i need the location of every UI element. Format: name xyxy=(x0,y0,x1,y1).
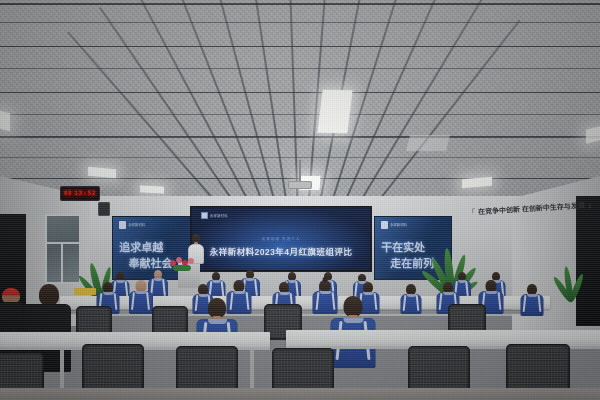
ceiling-cross-rail xyxy=(0,136,600,138)
ceiling-light-panel xyxy=(140,185,164,193)
uniform-stripe xyxy=(315,292,318,310)
company-logo-mark xyxy=(119,221,126,229)
uniform-collar xyxy=(319,291,331,294)
conference-room-photo: 08 13:52 永祥新材料 追求卓越 奉献社会 永祥新材料 优秀班组 先进个人… xyxy=(0,0,600,400)
ceiling-cross-rail xyxy=(0,114,600,115)
uniform-collar xyxy=(212,280,221,283)
ceiling-cross-rail xyxy=(0,22,600,23)
uniform-collar xyxy=(527,294,538,297)
right-banner-line2: 走在前列 xyxy=(390,255,434,271)
flower-bloom xyxy=(188,258,194,264)
company-logo-mark xyxy=(381,221,388,229)
ceiling-light-panel xyxy=(317,90,352,134)
table-leg xyxy=(60,349,64,389)
uniform-stripe xyxy=(220,281,223,297)
uniform-stripe xyxy=(465,281,468,297)
uniform-collar xyxy=(198,294,208,297)
uniform-stripe xyxy=(538,295,541,312)
ceiling-cross-rail xyxy=(0,3,600,5)
ceiling-cross-rail xyxy=(0,92,600,94)
ceiling-cross-rail xyxy=(0,157,600,158)
company-logo-mark xyxy=(201,212,208,219)
uniform-stripe xyxy=(146,292,149,310)
ceiling-projector xyxy=(288,181,312,189)
led-clock-display: 08 13:52 xyxy=(60,186,100,201)
uniform-collar xyxy=(485,291,497,294)
slogan-bracket-close: 」 xyxy=(588,200,596,210)
uniform-stripe xyxy=(497,292,500,310)
company-logo-text: 永祥新材料 xyxy=(128,222,145,227)
uniform-collar xyxy=(103,292,114,295)
attendee-head xyxy=(39,284,59,306)
flower-arrangement xyxy=(168,256,198,272)
uniform-collar xyxy=(406,294,416,297)
ceiling-light-panel xyxy=(0,111,10,131)
floor xyxy=(0,388,600,400)
screen-logo: 永祥新材料 xyxy=(201,212,228,219)
uniform-stripe xyxy=(163,279,166,296)
potted-plant-right xyxy=(556,256,586,302)
wall-speaker-left xyxy=(98,202,110,216)
right-banner-logo: 永祥新材料 xyxy=(381,221,407,229)
flower-foliage xyxy=(173,265,191,271)
left-banner-line1: 追求卓越 xyxy=(119,239,163,255)
uniform-stripe xyxy=(255,279,258,296)
projector-mount-rod xyxy=(299,160,301,182)
attendee-torso xyxy=(521,294,544,316)
uniform-stripe xyxy=(439,293,442,310)
screen-title: 永祥新材料2023年4月红旗班组评比 xyxy=(210,246,353,258)
attendee xyxy=(128,280,153,314)
uniform-collar xyxy=(443,292,454,295)
right-banner-line1: 干在实处 xyxy=(381,239,425,255)
left-banner-logo: 永祥新材料 xyxy=(119,221,145,229)
uniform-stripe xyxy=(523,295,526,312)
uniform-stripe xyxy=(245,292,248,310)
company-logo-text: 永祥新材料 xyxy=(210,213,228,218)
uniform-stripe xyxy=(416,295,419,311)
ceiling-cross-rail xyxy=(0,68,600,69)
uniform-stripe xyxy=(124,281,127,297)
attendee xyxy=(400,284,422,314)
left-window xyxy=(45,214,81,284)
attendee-torso xyxy=(129,291,153,314)
table-leg xyxy=(250,349,254,391)
window-mullion-horizontal xyxy=(47,242,79,244)
uniform-collar xyxy=(233,291,245,294)
attendee xyxy=(520,284,544,316)
led-clock-label: 08 xyxy=(64,191,72,197)
ceiling-light-panel xyxy=(406,135,450,151)
yellow-folder-left xyxy=(74,288,96,295)
uniform-collar xyxy=(135,291,147,294)
uniform-collar xyxy=(154,278,163,281)
main-presentation-screen: 永祥新材料 优秀班组 先进个人 永祥新材料2023年4月红旗班组评比 xyxy=(190,206,372,272)
screen-subtitle: 优秀班组 先进个人 xyxy=(262,237,301,242)
uniform-collar xyxy=(208,319,227,324)
uniform-collar xyxy=(343,318,363,323)
led-clock-time: 13:52 xyxy=(74,190,96,197)
attendee-torso xyxy=(401,294,422,314)
company-logo-text: 永祥新材料 xyxy=(390,222,407,227)
window-mullion-vertical xyxy=(61,242,63,282)
uniform-stripe xyxy=(131,292,134,310)
uniform-stripe xyxy=(403,295,406,311)
attendee-head xyxy=(208,298,226,318)
uniform-collar xyxy=(279,292,290,295)
slogan-bracket-open: 「 xyxy=(468,207,476,217)
uniform-stripe xyxy=(114,293,117,310)
uniform-collar xyxy=(363,292,374,295)
attendee-head xyxy=(344,296,363,317)
ceiling-cross-rail xyxy=(0,46,600,48)
